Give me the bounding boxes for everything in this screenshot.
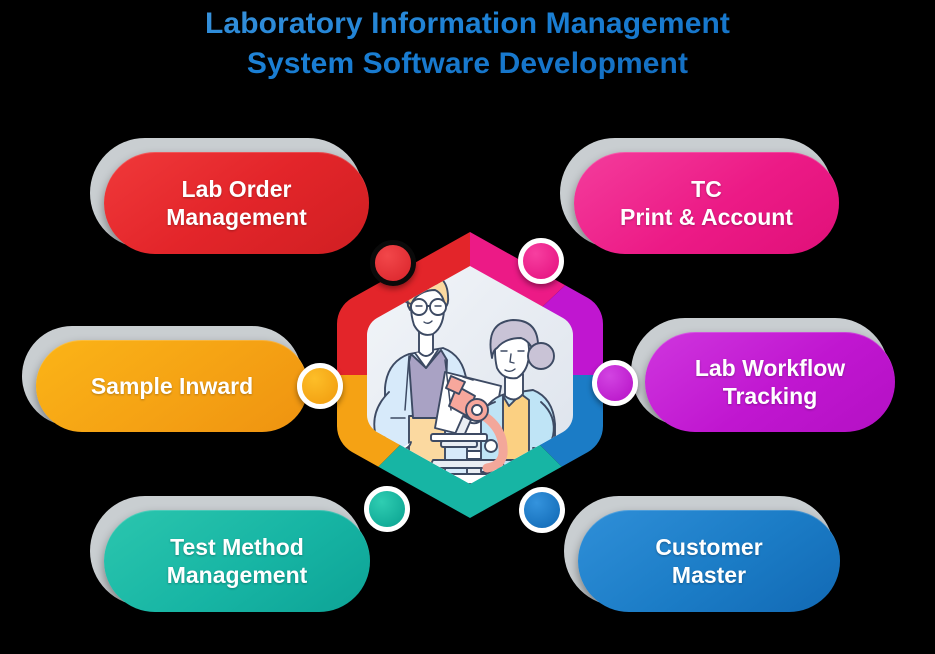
card-label-line-2: Tracking xyxy=(695,382,845,410)
node-sample-inward[interactable] xyxy=(297,363,343,409)
card-lab-workflow-tracking[interactable]: Lab Workflow Tracking xyxy=(645,332,895,432)
card-body[interactable]: Lab Workflow Tracking xyxy=(645,332,895,432)
node-customer-master[interactable] xyxy=(519,487,565,533)
card-label-line-2: Print & Account xyxy=(620,203,793,231)
title-line-1: Laboratory Information Management xyxy=(0,4,935,44)
card-body[interactable]: Sample Inward xyxy=(36,340,308,432)
hexagon-ring xyxy=(305,210,635,540)
page-title: Laboratory Information Management System… xyxy=(0,4,935,84)
node-lab-workflow-tracking[interactable] xyxy=(592,360,638,406)
card-label-line-2: Management xyxy=(166,203,307,231)
card-label-line-1: Lab Workflow xyxy=(695,354,845,382)
title-line-2: System Software Development xyxy=(0,44,935,84)
node-test-method-management[interactable] xyxy=(364,486,410,532)
card-label-line-1: Sample Inward xyxy=(91,372,253,400)
card-label-line-1: Test Method xyxy=(167,533,308,561)
card-label-line-1: Customer xyxy=(655,533,762,561)
infographic-canvas: Laboratory Information Management System… xyxy=(0,0,935,654)
card-label-line-2: Management xyxy=(167,561,308,589)
center-hexagon-group xyxy=(305,210,635,540)
card-label-line-1: Lab Order xyxy=(166,175,307,203)
card-label-line-1: TC xyxy=(620,175,793,203)
card-sample-inward[interactable]: Sample Inward xyxy=(36,340,308,432)
node-tc-print-account[interactable] xyxy=(518,238,564,284)
node-lab-order-management[interactable] xyxy=(370,240,416,286)
card-label-line-2: Master xyxy=(655,561,762,589)
